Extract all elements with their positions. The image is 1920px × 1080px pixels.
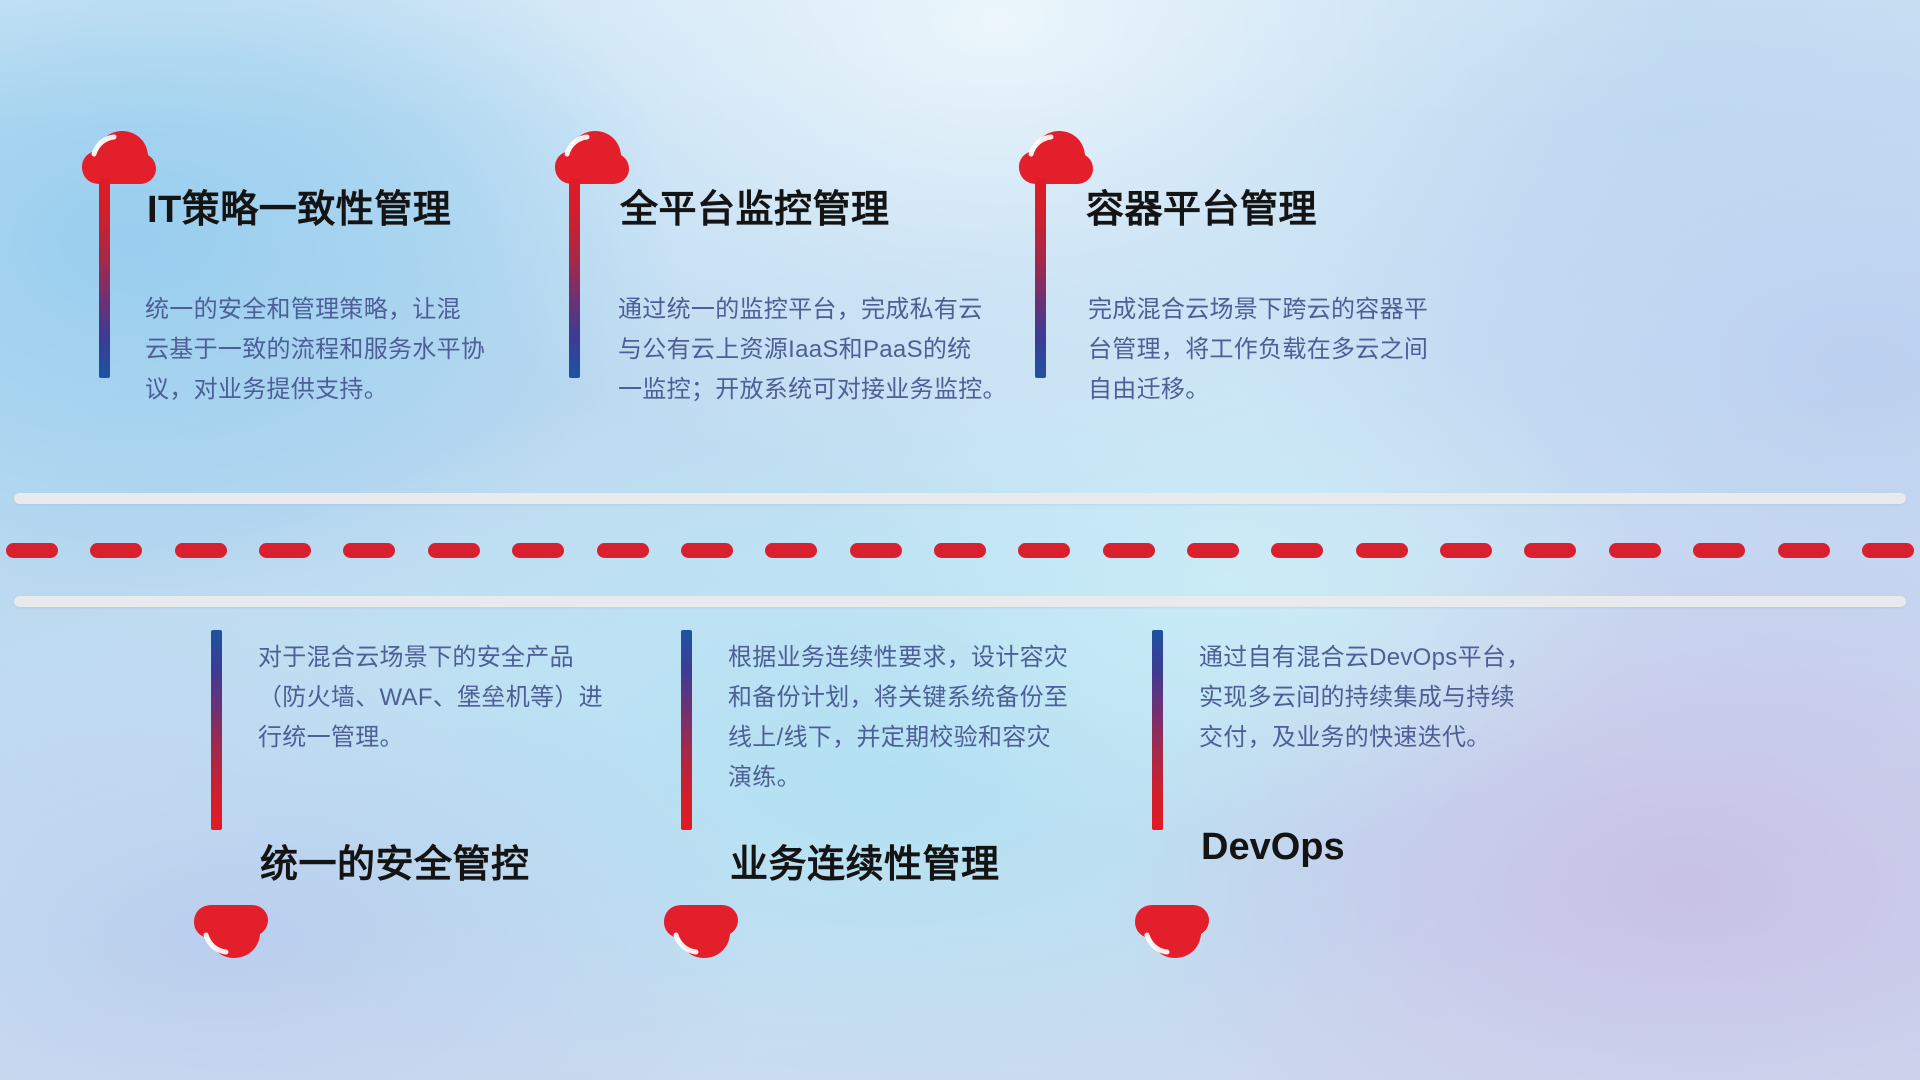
divider-dash — [1440, 543, 1492, 558]
top-card-body-3: 完成混合云场景下跨云的容器平 台管理，将工作负载在多云之间 自由迁移。 — [1088, 290, 1468, 410]
bottom-card-title-2: 业务连续性管理 — [730, 833, 1000, 888]
cloud-icon — [192, 903, 268, 959]
divider-dash — [1103, 543, 1155, 558]
divider-dash — [343, 543, 395, 558]
divider-dash — [1609, 543, 1661, 558]
connector-stem — [1152, 630, 1163, 830]
top-card-body-1: 统一的安全和管理策略，让混 云基于一致的流程和服务水平协 议，对业务提供支持。 — [145, 290, 505, 410]
divider-dash — [1778, 543, 1830, 558]
divider-dash — [1271, 543, 1323, 558]
top-card-title-1: IT策略一致性管理 — [147, 178, 451, 233]
bottom-card-body-1: 对于混合云场景下的安全产品 （防火墙、WAF、堡垒机等）进 行统一管理。 — [258, 638, 628, 758]
divider-dash — [6, 543, 58, 558]
divider-dash — [1524, 543, 1576, 558]
connector-stem — [99, 178, 110, 378]
divider-dash — [1356, 543, 1408, 558]
divider-dash — [428, 543, 480, 558]
divider-line-bottom — [14, 596, 1906, 607]
divider-dash — [90, 543, 142, 558]
connector-stem — [681, 630, 692, 830]
connector-stem — [1035, 178, 1046, 378]
divider-dash — [850, 543, 902, 558]
top-card-title-3: 容器平台管理 — [1086, 178, 1317, 233]
top-card-body-2: 通过统一的监控平台，完成私有云 与公有云上资源IaaS和PaaS的统 一监控；开… — [618, 290, 1018, 410]
cloud-icon — [1133, 903, 1209, 959]
cloud-icon — [553, 130, 629, 186]
divider-dash — [259, 543, 311, 558]
divider-dash — [934, 543, 986, 558]
connector-stem — [211, 630, 222, 830]
divider-dash — [1187, 543, 1239, 558]
divider-dash — [1693, 543, 1745, 558]
divider-dash — [1018, 543, 1070, 558]
cloud-icon — [1017, 130, 1093, 186]
divider-dash — [681, 543, 733, 558]
background-vignette — [0, 0, 1920, 1080]
top-card-title-2: 全平台监控管理 — [620, 178, 890, 233]
divider-dash — [175, 543, 227, 558]
cloud-icon — [662, 903, 738, 959]
divider-dash — [512, 543, 564, 558]
divider-dash — [1862, 543, 1914, 558]
bottom-card-title-3: DevOps — [1201, 826, 1345, 869]
divider-dash — [597, 543, 649, 558]
infographic-canvas: IT策略一致性管理 统一的安全和管理策略，让混 云基于一致的流程和服务水平协 议… — [0, 0, 1920, 1080]
divider-line-top — [14, 493, 1906, 504]
bottom-card-body-2: 根据业务连续性要求，设计容灾 和备份计划，将关键系统备份至 线上/线下，并定期校… — [728, 638, 1108, 798]
cloud-icon — [80, 130, 156, 186]
bottom-card-title-1: 统一的安全管控 — [260, 833, 530, 888]
connector-stem — [569, 178, 580, 378]
divider-dashed-line — [0, 542, 1920, 558]
bottom-card-body-3: 通过自有混合云DevOps平台， 实现多云间的持续集成与持续 交付，及业务的快速… — [1199, 638, 1559, 758]
divider-dash — [765, 543, 817, 558]
